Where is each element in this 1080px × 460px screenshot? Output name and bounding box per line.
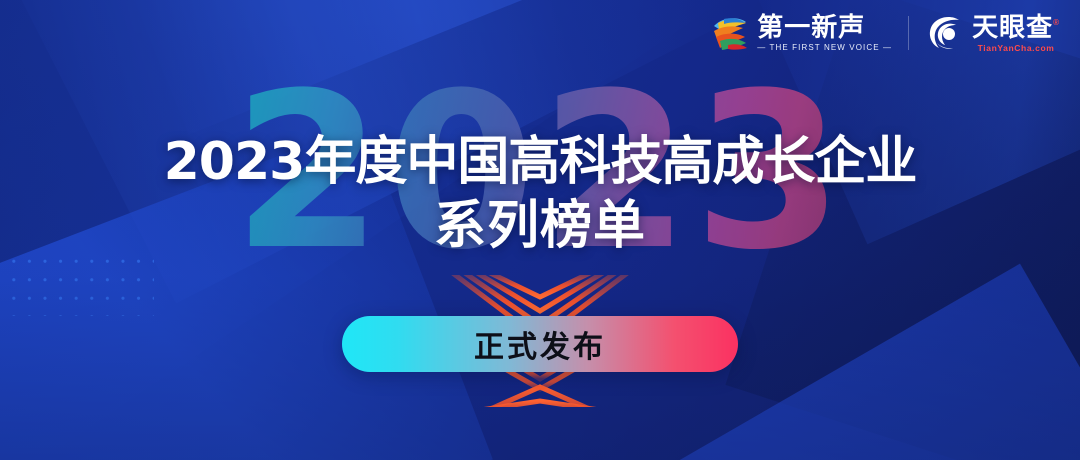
- release-status-label: 正式发布: [474, 322, 606, 366]
- tianyancha-text: 天眼查® TianYanCha.com: [972, 14, 1060, 53]
- logo-tianyancha: 天眼查® TianYanCha.com: [925, 13, 1060, 53]
- diyixinsheng-cn-name: 第一新声: [757, 14, 892, 40]
- headline-block: 2023年度中国高科技高成长企业 系列榜单: [0, 132, 1080, 257]
- headline-line-2: 系列榜单: [0, 196, 1080, 256]
- logo-diyixinsheng: 第一新声 — THE FIRST NEW VOICE —: [710, 13, 892, 53]
- tianyancha-domain: TianYanCha.com: [972, 44, 1060, 53]
- diyixinsheng-swirl-icon: [710, 13, 750, 53]
- logo-bar: 第一新声 — THE FIRST NEW VOICE — 天眼查® TianYa…: [710, 13, 1060, 53]
- release-status-pill[interactable]: 正式发布: [342, 316, 738, 372]
- diyixinsheng-text: 第一新声 — THE FIRST NEW VOICE —: [757, 14, 892, 52]
- diyixinsheng-tagline: — THE FIRST NEW VOICE —: [757, 44, 892, 52]
- registered-trademark-icon: ®: [1053, 18, 1060, 27]
- promo-banner: 2023: [0, 0, 1080, 460]
- tianyancha-shutter-icon: [925, 13, 965, 53]
- tianyancha-cn-label: 天眼查: [972, 12, 1053, 42]
- headline-line-1: 2023年度中国高科技高成长企业: [0, 132, 1080, 192]
- logo-divider: [908, 16, 909, 50]
- tianyancha-cn-name: 天眼查®: [972, 14, 1060, 40]
- dot-grid-decoration: [6, 252, 154, 316]
